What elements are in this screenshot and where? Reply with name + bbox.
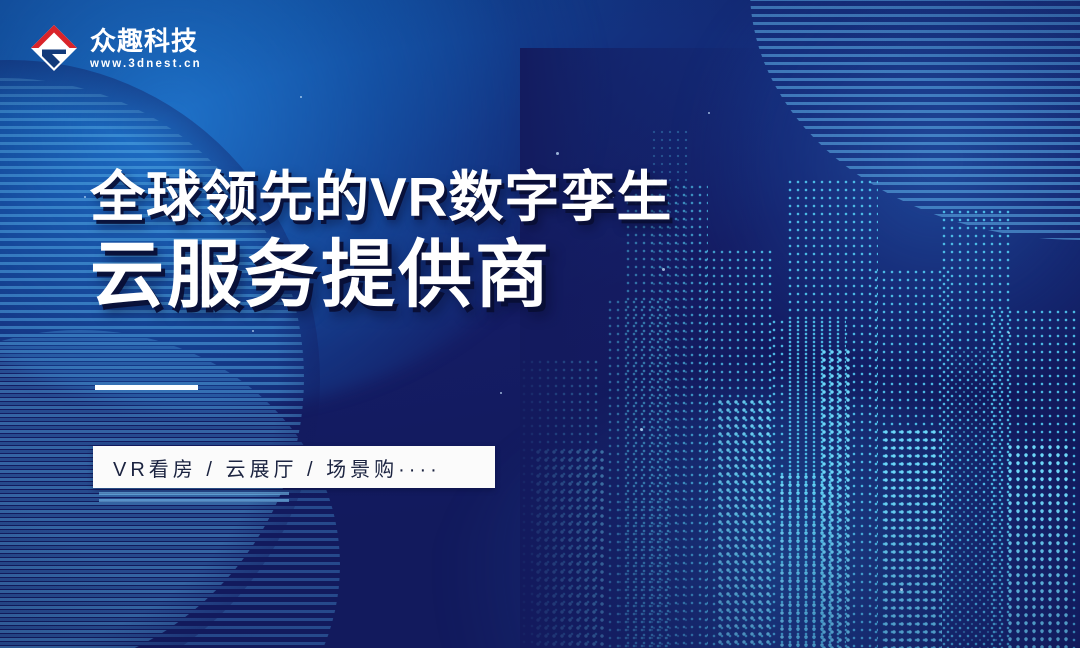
brand-name: 众趣科技 xyxy=(90,28,202,55)
promo-banner: 众趣科技 www.3dnest.cn 全球领先的VR数字孪生 云服务提供商 VR… xyxy=(0,0,1080,648)
background-vignette xyxy=(0,0,1080,648)
brand-url: www.3dnest.cn xyxy=(90,58,202,70)
headline-group: 全球领先的VR数字孪生 云服务提供商 xyxy=(90,168,672,315)
tagline-box[interactable]: VR看房 / 云展厅 / 场景购···· xyxy=(93,446,495,488)
diamond-chevron-logo-icon xyxy=(28,22,80,74)
tagline-stripe-accent xyxy=(99,492,289,506)
brand-logo-text: 众趣科技 www.3dnest.cn xyxy=(90,26,202,70)
headline-line-2: 云服务提供商 xyxy=(90,235,672,315)
headline-line-1: 全球领先的VR数字孪生 xyxy=(90,168,672,227)
tagline-text: VR看房 / 云展厅 / 场景购···· xyxy=(93,453,441,482)
white-divider-line xyxy=(95,385,198,390)
brand-logo[interactable]: 众趣科技 www.3dnest.cn xyxy=(28,22,202,74)
